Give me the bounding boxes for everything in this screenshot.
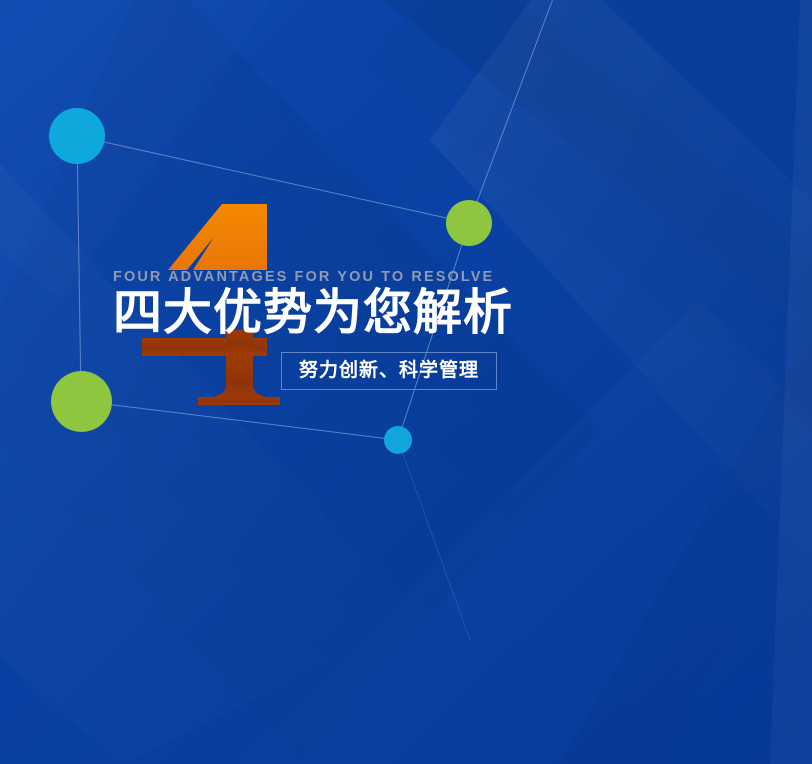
line-cyan-to-green-right (77, 136, 469, 223)
banner-headline: 四大优势为您解析 (113, 288, 673, 340)
banner-tagline-row: 努力创新、科学管理 (113, 352, 673, 390)
line-cyan-small-downward (398, 440, 470, 640)
node-cyan-small (384, 426, 412, 454)
line-cyan-to-green-left (77, 136, 81, 401)
promo-banner: FOUR ADVANTAGES FOR YOU TO RESOLVE 四大优势为… (0, 0, 812, 764)
banner-eyebrow: FOUR ADVANTAGES FOR YOU TO RESOLVE (113, 270, 673, 286)
node-green-medium (446, 200, 492, 246)
banner-tagline: 努力创新、科学管理 (281, 352, 497, 390)
numeral-four-upper (168, 204, 267, 270)
line-green-left-to-cyan-small (81, 401, 398, 440)
node-cyan-large (49, 108, 105, 164)
node-green-large (51, 371, 112, 432)
line-green-right-upward (469, 0, 560, 223)
banner-copy: FOUR ADVANTAGES FOR YOU TO RESOLVE 四大优势为… (113, 270, 673, 390)
